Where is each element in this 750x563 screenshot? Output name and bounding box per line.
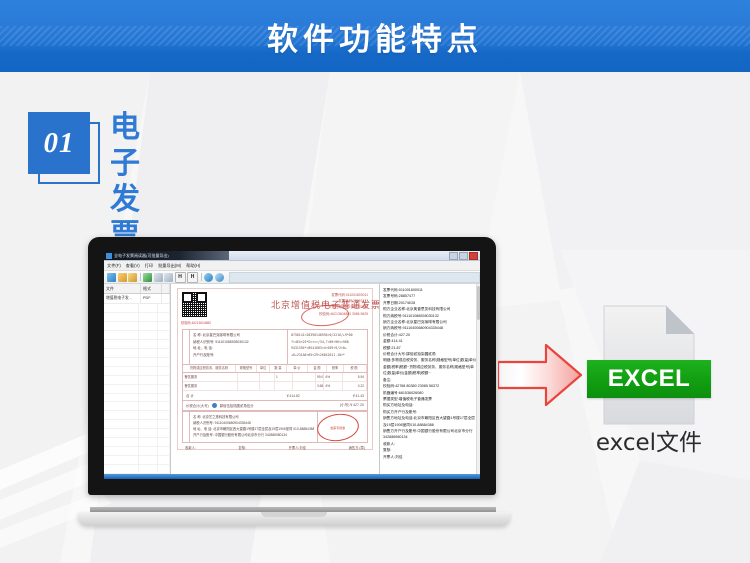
line-items-header: 货物或应税劳务、服务名称 规格型号 单位 数 量 单 价 金 额 税率 税 额 [183,365,367,373]
close-icon[interactable] [469,252,478,260]
seller-fields: 名 称: 北京艺之旅科技有限公司 纳税人识别号: 911104006809043… [190,412,318,442]
buyer-address: 地 址、电 话: [193,345,284,352]
folder-add-icon[interactable] [128,273,137,282]
file-list-empty-row [104,402,170,411]
buyer-fields: 名 称: 北京星巴克咖啡有限公司 纳税人识别号: 911101088928030… [190,330,288,364]
prev-page-icon[interactable]: H [175,272,186,283]
detail-line: 销售方开户行及账号:中国银行股份有限公司北京市分行 342886980134 [383,428,478,441]
export-icon[interactable] [143,273,152,282]
col-rate: 税率 [327,365,344,372]
zoom-in-icon[interactable] [154,273,163,282]
col-goods-name: 货物或应税劳务、服务名称 [183,365,236,372]
invoice-official-seal: 发票专用章 [315,411,360,444]
page-title: 软件功能特点 [0,0,750,72]
subtotal-tax: ￥41.43 [352,393,364,398]
window-title: 全电子发票阅读器(可批量导出) [114,253,169,259]
detail-line: 开票人:刘佳 [383,454,478,460]
file-list-empty-row [104,411,170,420]
menu-item-help[interactable]: 帮助(H) [186,263,200,269]
col-tax: 税 额 [344,365,367,372]
seller-bank: 开户行及账号: 中国银行股份有限公司北京市分行 342886980134 [193,432,314,438]
invoice-reader-window: 全电子发票阅读器(可批量导出) 文件(F) 查看(V) 打印 批量导出(M) 帮… [104,251,480,479]
excel-caption: excel文件 [576,423,722,457]
menu-item-file[interactable]: 文件(F) [107,263,121,269]
file-list-empty-row [104,367,170,376]
laptop-mockup: 全电子发票阅读器(可批量导出) 文件(F) 查看(V) 打印 批量导出(M) 帮… [78,237,510,529]
detail-scrollbar[interactable] [476,284,480,474]
cell-unit [260,373,275,381]
laptop-base [78,507,510,529]
col-unit: 单位 [257,365,270,372]
open-icon[interactable] [107,273,116,282]
cipher-line: 9431394*>8541683<4<039<9/2>0+ [291,345,364,352]
invoice-seller-block: 名 称: 北京艺之旅科技有限公司 纳税人识别号: 911104006809043… [182,411,368,443]
file-list-empty-row [104,465,170,474]
toolbar-divider-2 [201,273,202,281]
window-title-bar: 全电子发票阅读器(可批量导出) [104,251,480,261]
folder-icon[interactable] [118,273,127,282]
detail-scrollbar-thumb[interactable] [477,286,480,320]
detail-line: 销售方地址及电话:北京市朝阳区西大望路1号楼17层全层及19层1906室同010… [383,415,478,428]
buyer-bank: 开户行及账号: [193,352,284,359]
cell-spec [238,373,261,381]
column-header-file: 文件 [104,284,141,293]
export-arrow-icon [498,342,582,408]
invoice-total-row: 价税合计(大写) 肆佰伍拾陆圆贰角伍分 (小写)￥427.20 [183,400,367,410]
file-list-empty-row [104,429,170,438]
cipher-line: 7>4E4<25*G<<<</34,7<89<96<>968 [291,339,364,346]
column-header-extra [162,284,170,293]
info-icon[interactable] [204,273,213,282]
window-controls[interactable] [449,252,478,260]
qr-code-icon [182,292,207,317]
file-list-empty-row [104,394,170,403]
cell-price [293,382,316,390]
seller-address: 地 址、电 话: 北京市朝阳区西大望路1号楼17层全层及19层1906室同 01… [193,426,314,432]
file-list-empty-row [104,349,170,358]
file-list-empty-row [104,420,170,429]
line-items-subtotal: 合 计 ￥414.82 ￥41.43 [183,391,367,400]
cell-rate: 6% [324,373,343,381]
toolbar[interactable]: H H [104,271,480,284]
maximize-icon[interactable] [459,252,468,260]
file-list-panel[interactable]: 文件 格式 增值税电子发... PDF [104,284,171,474]
total-digits: (小写)￥427.20 [340,403,367,408]
toolbar-address-field[interactable] [229,272,480,283]
excel-label: EXCEL [608,365,691,393]
cell-file-format: PDF [141,294,162,303]
cell-file-extra [162,294,170,303]
invoice-meta: 发票代码:011001800011 发票号码:28857477 开票日期:201… [319,292,368,317]
subtotal-amount: ￥414.82 [286,393,300,398]
window-body: 文件 格式 增值税电子发... PDF [104,284,480,474]
invoice-qr-caption: 校验码:46213604880 [181,320,211,325]
invoice-document: 校验码:46213604880 北京增值税电子普通发票 发票代码:0110018… [177,288,373,450]
invoice-detail-panel[interactable]: 发票代码:011001800011 发票号码:28857477 开票日期:201… [380,284,480,474]
seller-side-label [183,412,190,442]
file-list-empty-row [104,304,170,313]
file-list-empty-row [104,447,170,456]
file-list-empty-row [104,376,170,385]
cell-goods-name: 餐饮服务 [183,382,238,390]
line-item-row: 餐饮服务 3.68 6% 0.22 [183,382,367,391]
signature-seller: 销售方:(章) [349,445,365,450]
signature-drawer: 开票人:刘佳 [289,445,306,450]
page-header-banner: 软件功能特点 [0,0,750,72]
window-status-bar [104,474,480,479]
badge-filled-square: 01 [28,112,90,174]
invoice-viewer[interactable]: 校验码:46213604880 北京增值税电子普通发票 发票代码:0110018… [171,284,380,474]
file-list-empty-row [104,340,170,349]
column-header-format: 格式 [141,284,162,293]
buyer-taxid: 纳税人识别号: 911101088928030132 [193,339,284,346]
excel-file-icon: EXCEL [596,300,702,430]
file-list-empty-row [104,456,170,465]
subtotal-label: 合 计 [183,393,286,398]
help-icon[interactable] [215,273,224,282]
menu-bar[interactable]: 文件(F) 查看(V) 打印 批量导出(M) 帮助(H) [104,261,480,271]
file-list-header: 文件 格式 [104,284,170,294]
buyer-side-label [183,330,190,364]
excel-label-band: EXCEL [587,360,711,398]
line-item-row: 餐饮服务 1 99.06 6% 5.94 [183,373,367,382]
cell-spec [238,382,261,390]
file-list-empty-row [104,358,170,367]
total-seal-icon [212,403,217,408]
cell-tax: 5.94 [343,373,368,381]
section-number: 01 [44,127,75,160]
cipher-line: 8756141<28390148594>0/2216/+9*00 [291,332,364,339]
file-list-empty-row [104,438,170,447]
toolbar-divider [140,273,141,281]
laptop-base-notch [261,512,327,517]
buyer-name: 名 称: 北京星巴克咖啡有限公司 [193,332,284,339]
minimize-icon[interactable] [449,252,458,260]
cell-unit [260,382,275,390]
file-list-empty-row [104,313,170,322]
invoice-checkcode: 校验码:46213604880 3086 5625 [319,311,368,317]
total-label: 价税合计(大写) [186,403,209,408]
col-spec: 规格型号 [236,365,257,372]
menu-item-batch-export[interactable]: 批量导出(M) [158,263,181,269]
cell-file-name: 增值税电子发... [104,294,141,303]
invoice-line-items-table: 货物或应税劳务、服务名称 规格型号 单位 数 量 单 价 金 额 税率 税 额 [182,365,368,411]
next-page-icon[interactable]: H [187,272,198,283]
subtotal-values: ￥414.82 ￥41.43 [286,393,367,398]
section-number-badge: 01 [28,112,104,188]
file-list-empty-row [104,385,170,394]
laptop-screen: 全电子发票阅读器(可批量导出) 文件(F) 查看(V) 打印 批量导出(M) 帮… [104,251,480,479]
section-title: 电子发票 [110,110,169,254]
detail-line: 明细:多物或应税劳务、服务名称|规格型号|单位|数量|单价|金额|税率|税额~货… [383,357,478,376]
invoice-header: 校验码:46213604880 北京增值税电子普通发票 发票代码:0110018… [178,289,372,329]
menu-item-view[interactable]: 查看(V) [126,263,140,269]
file-list-row[interactable]: 增值税电子发... PDF [104,294,170,304]
laptop-lid: 全电子发票阅读器(可批量导出) 文件(F) 查看(V) 打印 批量导出(M) 帮… [88,237,496,495]
file-list-empty-row [104,331,170,340]
col-price: 单 价 [287,365,308,372]
app-icon [106,253,112,259]
signature-payee: 收款人: [185,445,196,450]
zoom-out-icon[interactable] [164,273,173,282]
col-qty: 数 量 [270,365,287,372]
seller-seal-area: 发票专用章 [318,412,367,442]
cell-rate: 6% [324,382,343,390]
cell-amount: 3.68 [316,382,325,390]
cell-price [293,373,316,381]
total-chinese: 肆佰伍拾陆圆贰角伍分 [220,403,254,408]
cell-qty [275,382,294,390]
file-list-empty-row [104,322,170,331]
invoice-buyer-block: 名 称: 北京星巴克咖啡有限公司 纳税人识别号: 911101088928030… [182,329,368,365]
seal-text: 发票专用章 [330,426,345,430]
cipher-line: +6+231&6<65<29<26642611.10>* [291,352,364,359]
menu-item-print[interactable]: 打印 [145,263,153,269]
col-amount: 金 额 [308,365,327,372]
cell-qty: 1 [275,373,294,381]
cell-tax: 0.22 [343,382,368,390]
invoice-signature-row: 收款人: 复核: 开票人:刘佳 销售方:(章) [182,445,368,450]
invoice-cipher-block: 8756141<28390148594>0/2216/+9*00 7>4E4<2… [288,330,367,364]
cell-goods-name: 餐饮服务 [183,373,238,381]
cell-amount: 99.06 [316,373,325,381]
total-left: 价税合计(大写) 肆佰伍拾陆圆贰角伍分 [183,403,340,408]
signature-reviewer: 复核: [238,445,246,450]
